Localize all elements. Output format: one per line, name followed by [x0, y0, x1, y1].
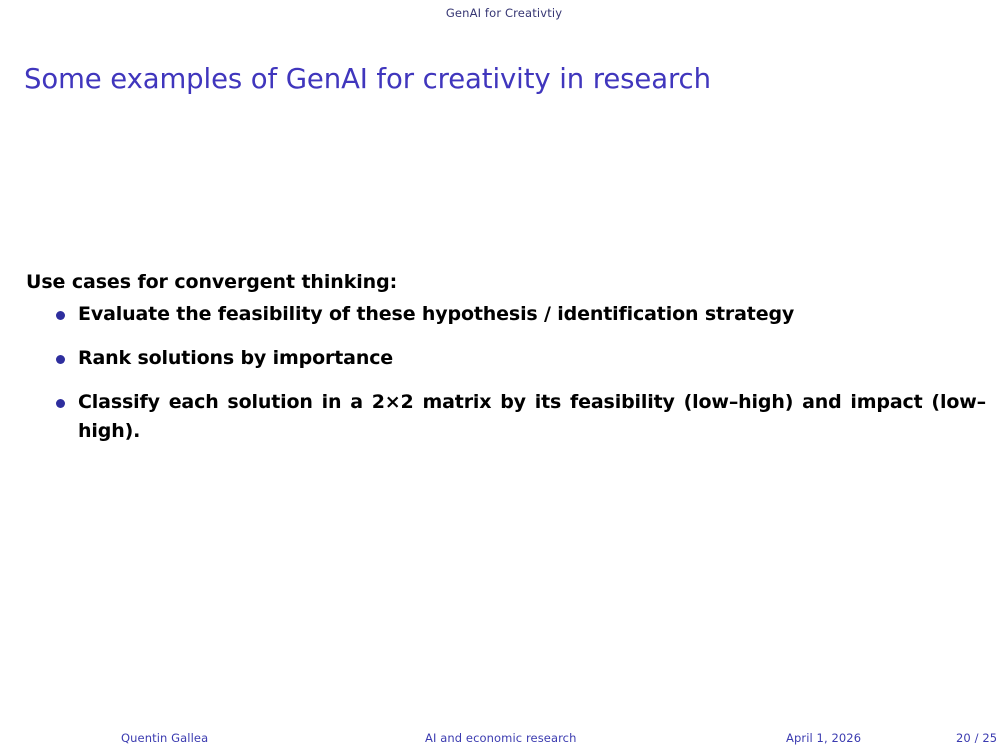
bullet-list: Evaluate the feasibility of these hypoth… — [26, 300, 986, 476]
list-item-label: Classify each solution in a 2×2 matrix b… — [78, 388, 986, 477]
footer-page-number: 20 / 25 — [956, 731, 997, 745]
slide-body: Use cases for convergent thinking: Evalu… — [26, 270, 986, 476]
bullet-dot-icon — [56, 399, 65, 408]
footer-author: Quentin Gallea — [121, 731, 208, 745]
list-item: Rank solutions by importance — [26, 344, 986, 374]
slide-header: GenAI for Creativtiy — [0, 0, 1008, 25]
footer-subject: AI and economic research — [425, 731, 577, 745]
frame-title: Some examples of GenAI for creativity in… — [24, 64, 711, 94]
block-heading: Use cases for convergent thinking: — [26, 270, 986, 294]
presentation-slide: GenAI for Creativtiy Some examples of Ge… — [0, 0, 1008, 756]
footer-date: April 1, 2026 — [786, 731, 861, 745]
bullet-dot-icon — [56, 355, 65, 364]
list-item: Evaluate the feasibility of these hypoth… — [26, 300, 986, 330]
bullet-dot-icon — [56, 311, 65, 320]
slide-footer: Quentin Gallea AI and economic research … — [0, 726, 1008, 756]
list-item-label: Rank solutions by importance — [78, 344, 986, 374]
header-section-title: GenAI for Creativtiy — [446, 6, 562, 20]
list-item-label: Evaluate the feasibility of these hypoth… — [78, 300, 986, 330]
list-item: Classify each solution in a 2×2 matrix b… — [26, 388, 986, 477]
